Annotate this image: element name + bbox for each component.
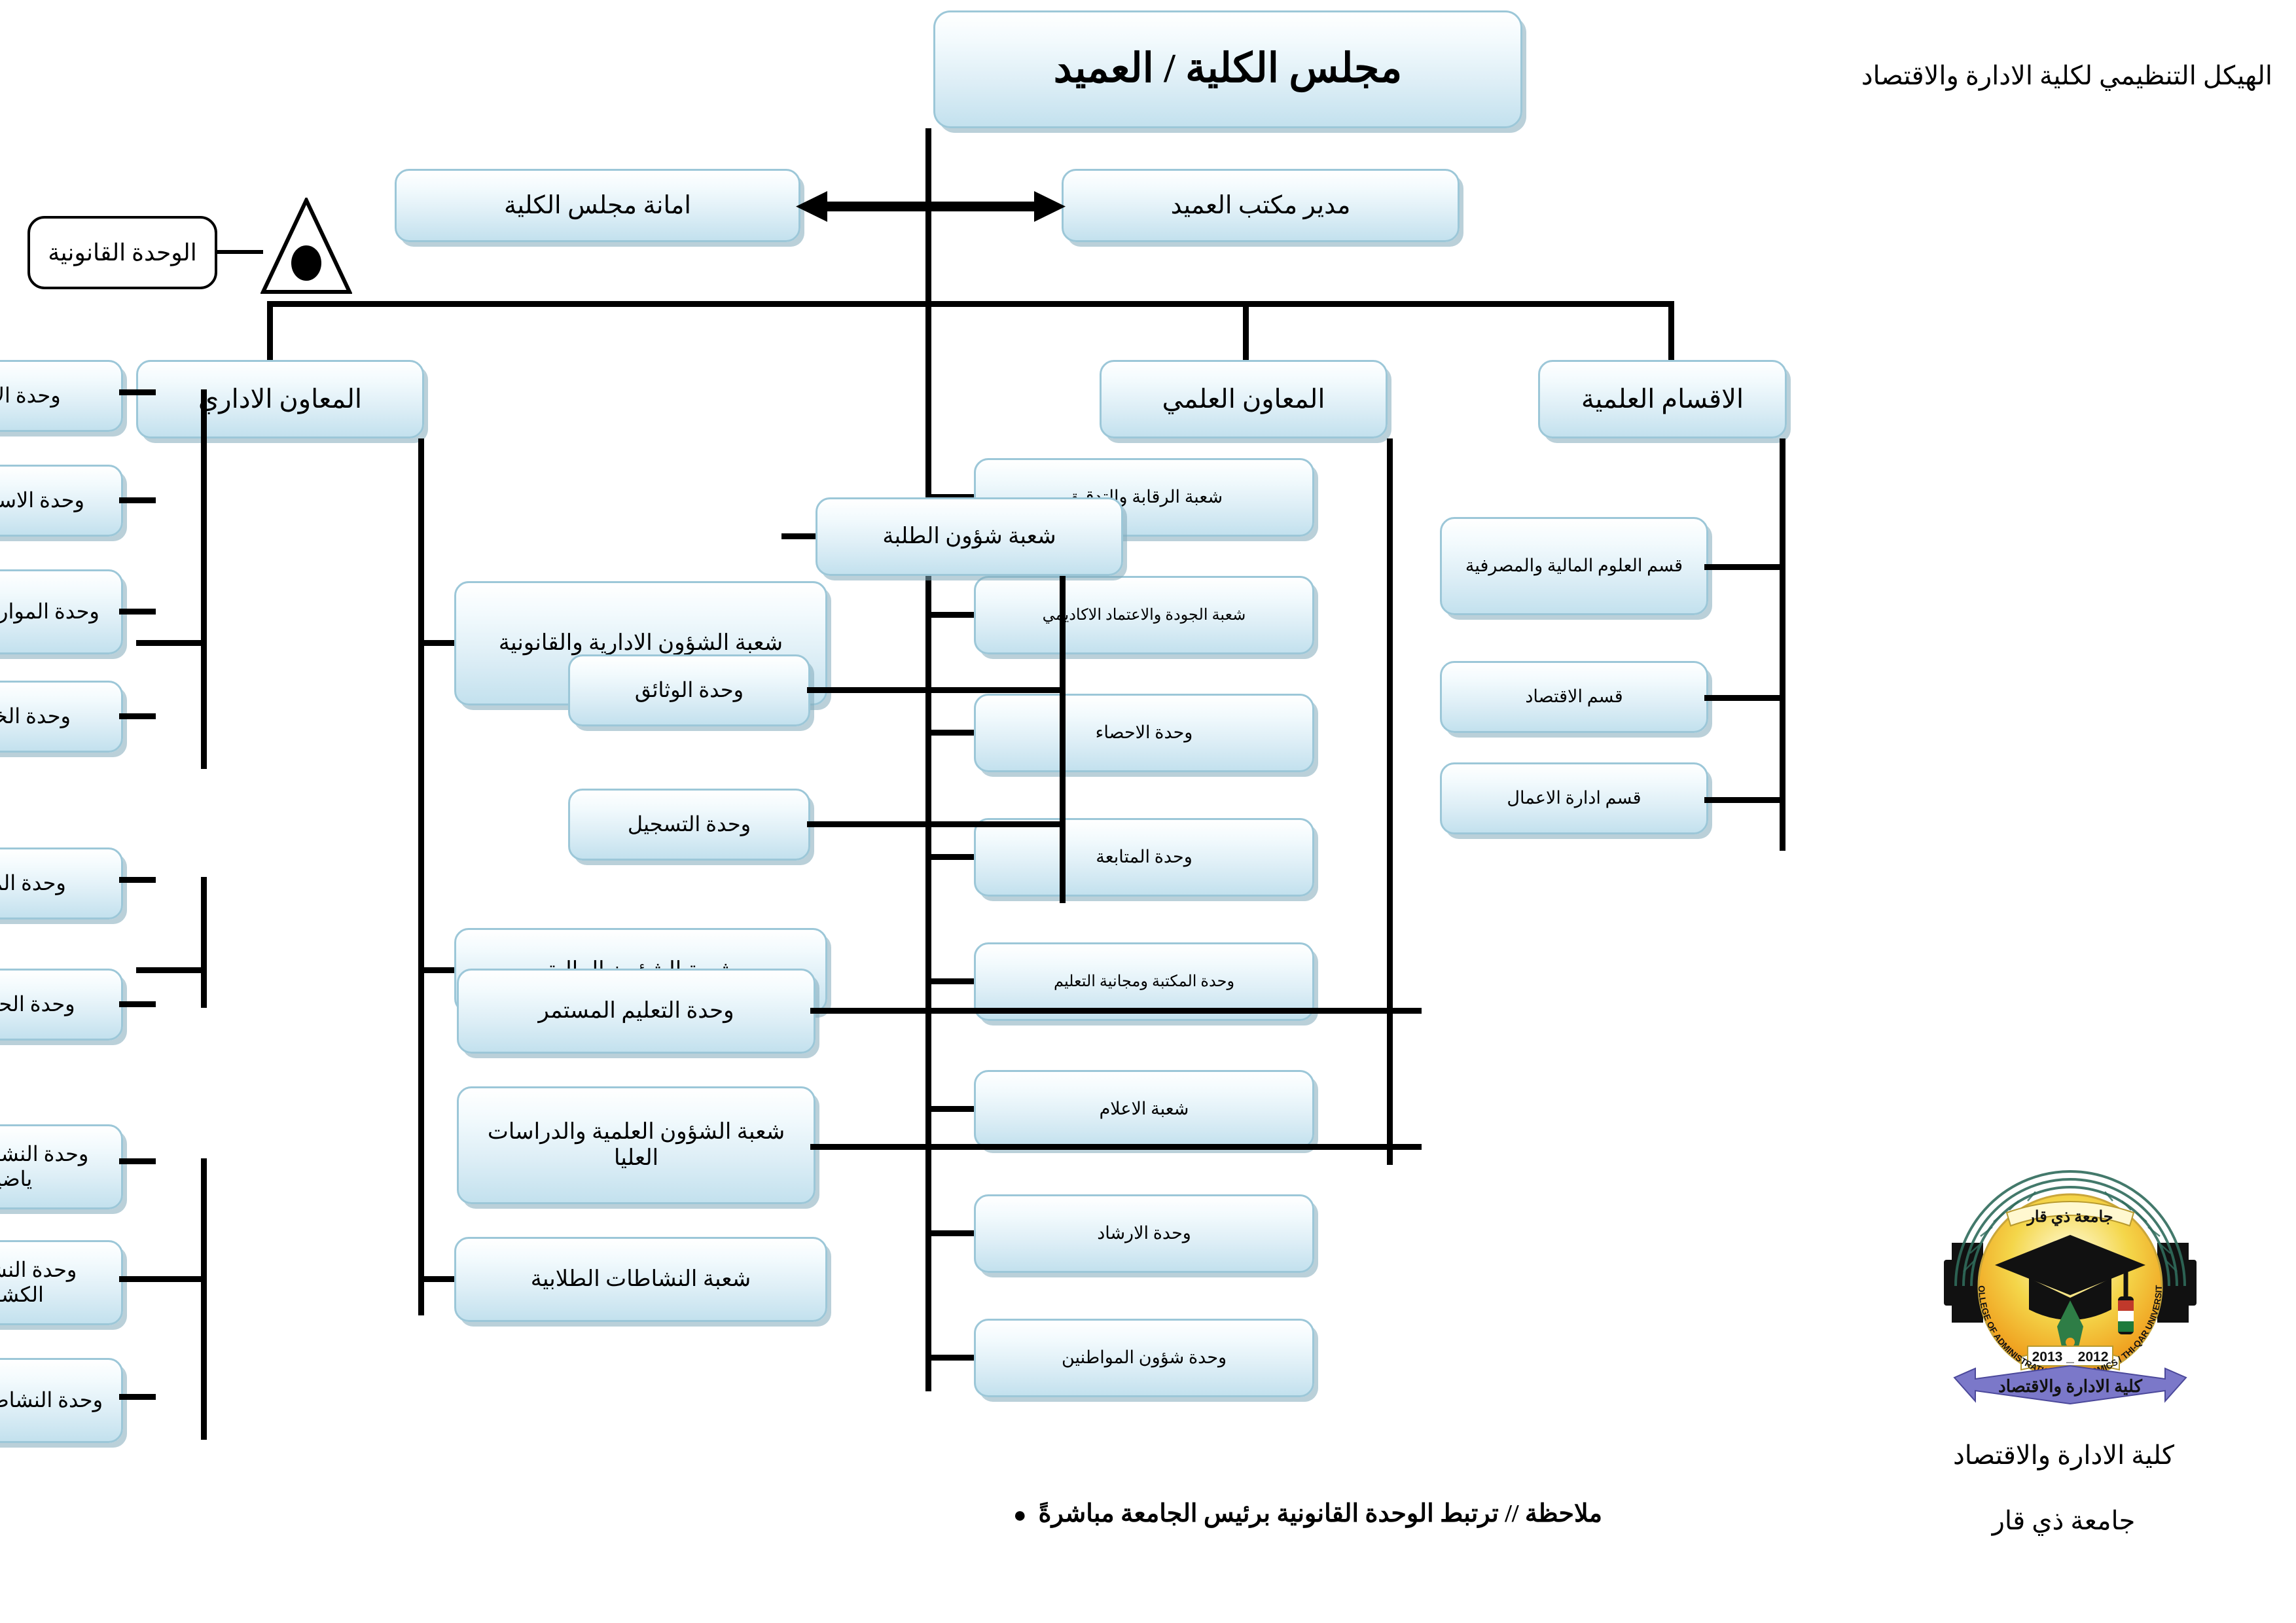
page-title: الهيكل التنظيمي لكلية الادارة والاقتصاد	[1861, 60, 2272, 91]
node-legal-unit[interactable]: الوحدة القانونية	[27, 216, 217, 289]
node-label: وحدة الوثائق	[577, 678, 802, 703]
connector-dean-item-4	[928, 854, 974, 860]
connector-legal-unit	[216, 250, 263, 254]
node-college-council-dean[interactable]: مجلس الكلية / العميد	[933, 10, 1522, 128]
node-unit-services[interactable]: وحدة الخدمات	[0, 681, 123, 753]
node-label: وحدة التسجيل	[577, 812, 802, 837]
node-label: شعبة النشاطات الطلابية	[463, 1266, 819, 1293]
node-scientific-departments[interactable]: الاقسام العلمية	[1538, 360, 1787, 438]
connector-admin-to-section-3	[420, 1276, 454, 1282]
connector-section1-riser	[201, 389, 207, 769]
svg-text:جامعة ذي قار: جامعة ذي قار	[2026, 1209, 2113, 1226]
node-council-secretariat[interactable]: امانة مجلس الكلية	[395, 169, 800, 242]
footer-college-name: كلية الادارة والاقتصاد	[1903, 1440, 2224, 1471]
connector-dean-item-3	[928, 730, 974, 736]
connector-continuing-education	[1390, 1008, 1422, 1014]
connector-unit-warehouse	[119, 877, 156, 883]
connector-unit-administration	[119, 389, 156, 395]
node-label: وحدة الادارة	[0, 383, 115, 408]
node-administrative-assistant[interactable]: المعاون الاداري	[136, 360, 424, 438]
node-label: وحدة الحسابات	[0, 992, 115, 1017]
footer-university-name: جامعة ذي قار	[1903, 1505, 2224, 1536]
node-unit-human-resources[interactable]: وحدة الموارد البشرية	[0, 569, 123, 654]
node-unit-artistic-activities[interactable]: وحدة النشاطات الفنية	[0, 1358, 123, 1443]
node-student-affairs-section[interactable]: شعبة شؤون الطلبة	[816, 497, 1123, 576]
connector-dean-item-5	[928, 978, 974, 984]
node-statistics-unit[interactable]: وحدة الاحصاء	[974, 694, 1314, 772]
node-unit-inquiries[interactable]: وحدة الاستعلامات	[0, 465, 123, 537]
node-label: شعبة شؤون الطلبة	[824, 524, 1115, 550]
node-unit-sports-activities[interactable]: وحدة النشاطات الـ ياضية	[0, 1124, 123, 1209]
node-label: قسم الاقتصاد	[1448, 687, 1700, 707]
node-label: المعاون العلمي	[1108, 383, 1379, 414]
thi-qar-university-seal-logo: جامعة ذي قار 2012 _ 2013 COLLEGE OF ADMI…	[1929, 1162, 2211, 1423]
node-label: وحدة النشاطات الكشفية	[0, 1258, 115, 1308]
connector-unit-human-resources	[119, 609, 156, 615]
triangle-with-dot-icon	[260, 198, 352, 294]
connector-department-3	[1704, 797, 1785, 803]
connector-admin-to-section-1	[420, 640, 454, 646]
node-label: وحدة النشاطات الـ ياضية	[0, 1142, 115, 1192]
node-dean-office-manager[interactable]: مدير مكتب العميد	[1062, 169, 1460, 242]
node-documents-unit[interactable]: وحدة الوثائق	[568, 654, 810, 726]
connector-spine-to-continuing-education	[810, 1008, 1393, 1014]
connector-scientific-to-student-affairs	[781, 533, 816, 539]
node-label: شعبة الجودة والاعتماد الاكاديمي	[982, 606, 1306, 624]
connector-unit-accounts	[119, 1001, 156, 1007]
connector-unit-services	[119, 713, 156, 719]
org-chart-canvas: الهيكل التنظيمي لكلية الادارة والاقتصاد …	[0, 0, 2296, 1623]
connector-dean-item-2	[928, 612, 974, 618]
connector-unit-scout-activities	[119, 1276, 156, 1282]
node-label: شعبة الشؤون الادارية والقانونية	[463, 630, 819, 656]
node-label: قسم ادارة الاعمال	[1448, 788, 1700, 809]
node-scientific-affairs-graduate-studies-section[interactable]: شعبة الشؤون العلمية والدراسات العليا	[457, 1086, 816, 1204]
node-student-activities-section[interactable]: شعبة النشاطات الطلابية	[454, 1237, 827, 1322]
connector-section1-stem	[136, 640, 207, 646]
connector-spine-to-scientific-affairs	[810, 1144, 1393, 1150]
node-label: وحدة الاحصاء	[982, 722, 1306, 743]
connector-section2-stem	[136, 967, 207, 973]
double-headed-arrow-icon	[796, 188, 1066, 225]
svg-text:2012 _ 2013: 2012 _ 2013	[2032, 1349, 2109, 1364]
connector-section2-riser	[201, 877, 207, 1008]
node-unit-accounts[interactable]: وحدة الحسابات	[0, 969, 123, 1041]
node-label: وحدة الموارد البشرية	[0, 599, 115, 624]
node-label: وحدة المخزن	[0, 871, 115, 896]
connector-unit-inquiries	[119, 497, 156, 503]
footnote-text: ملاحظة // ترتبط الوحدة القانونية برئيس ا…	[1039, 1500, 1602, 1527]
node-label: وحدة شؤون المواطنين	[982, 1347, 1306, 1368]
node-registration-unit[interactable]: وحدة التسجيل	[568, 789, 810, 861]
connector-admin-spine	[418, 438, 424, 1315]
svg-text:كلية الادارة والاقتصاد: كلية الادارة والاقتصاد	[1998, 1377, 2142, 1397]
connector-scientific-spine	[1387, 438, 1393, 1165]
node-label: وحدة الارشاد	[982, 1223, 1306, 1244]
connector-student-affairs-riser	[1060, 576, 1066, 903]
node-label: مجلس الكلية / العميد	[942, 45, 1514, 93]
connector-main-bus	[267, 301, 1674, 307]
connector-department-1	[1704, 564, 1785, 570]
node-label: المعاون الاداري	[145, 383, 416, 414]
node-label: الوحدة القانونية	[48, 239, 197, 266]
connector-dean-item-7	[928, 1230, 974, 1236]
node-label: شعبة الاعلام	[982, 1099, 1306, 1120]
node-continuing-education-unit[interactable]: وحدة التعليم المستمر	[457, 969, 816, 1054]
node-label: مدير مكتب العميد	[1070, 191, 1451, 221]
node-unit-scout-activities[interactable]: وحدة النشاطات الكشفية	[0, 1240, 123, 1325]
node-label: وحدة المتابعة	[982, 847, 1306, 868]
node-guidance-unit[interactable]: وحدة الارشاد	[974, 1194, 1314, 1273]
connector-unit-sports-activities	[119, 1158, 156, 1164]
node-department-economics[interactable]: قسم الاقتصاد	[1440, 661, 1708, 733]
connector-scientific-affairs	[1390, 1144, 1422, 1150]
footnote: ملاحظة // ترتبط الوحدة القانونية برئيس ا…	[1013, 1499, 1602, 1528]
node-media-section[interactable]: شعبة الاعلام	[974, 1070, 1314, 1149]
node-unit-administration[interactable]: وحدة الادارة	[0, 360, 123, 432]
connector-documents-unit	[807, 687, 1066, 693]
connector-unit-artistic-activities	[119, 1394, 156, 1400]
node-label: قسم العلوم المالية والمصرفية	[1448, 556, 1700, 577]
node-label: الاقسام العلمية	[1547, 383, 1778, 414]
node-citizen-affairs-unit[interactable]: وحدة شؤون المواطنين	[974, 1319, 1314, 1397]
node-scientific-assistant[interactable]: المعاون العلمي	[1100, 360, 1388, 438]
node-label: وحدة التعليم المستمر	[465, 998, 807, 1024]
bullet-icon: ●	[1013, 1503, 1027, 1527]
node-department-business-administration[interactable]: قسم ادارة الاعمال	[1440, 762, 1708, 834]
node-label: وحدة النشاطات الفنية	[0, 1388, 115, 1413]
connector-dean-item-6	[928, 1106, 974, 1112]
node-label: وحدة المكتبة ومجانية التعليم	[982, 972, 1306, 991]
node-quality-and-accreditation-section[interactable]: شعبة الجودة والاعتماد الاكاديمي	[974, 576, 1314, 654]
node-label: امانة مجلس الكلية	[403, 191, 792, 221]
node-label: شعبة الشؤون العلمية والدراسات العليا	[465, 1119, 807, 1171]
connector-department-2	[1704, 695, 1785, 701]
connector-admin-to-section-2	[420, 967, 454, 973]
connector-dean-item-8	[928, 1355, 974, 1361]
connector-registration-unit	[807, 821, 1066, 827]
connector-departments-spine	[1780, 438, 1785, 851]
node-label: وحدة الاستعلامات	[0, 488, 115, 513]
node-label: وحدة الخدمات	[0, 704, 115, 729]
node-follow-up-unit[interactable]: وحدة المتابعة	[974, 818, 1314, 897]
node-department-finance-banking[interactable]: قسم العلوم المالية والمصرفية	[1440, 517, 1708, 615]
connector-section3-riser	[201, 1158, 207, 1440]
node-unit-warehouse[interactable]: وحدة المخزن	[0, 847, 123, 919]
